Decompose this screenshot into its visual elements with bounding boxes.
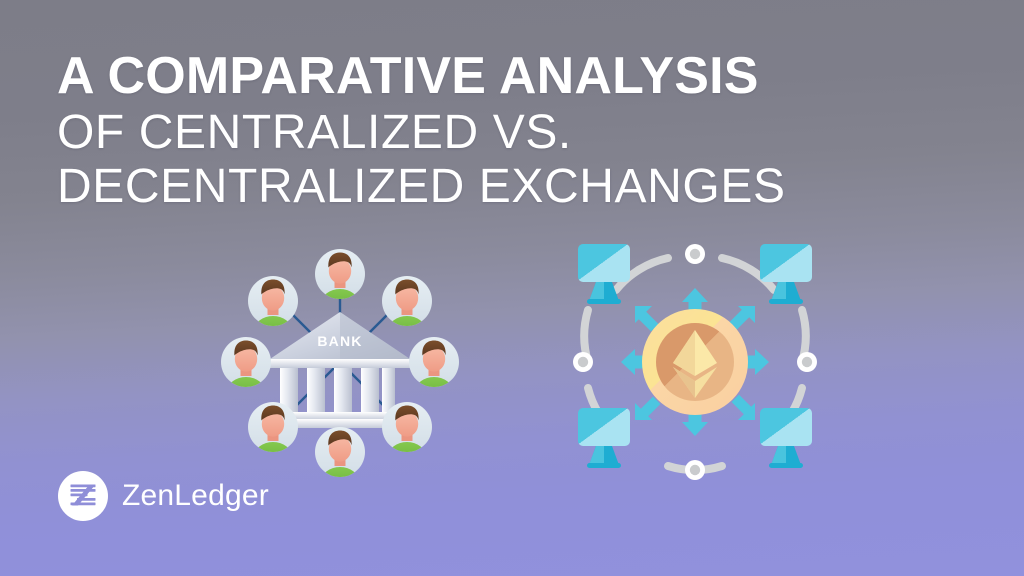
brand-wordmark: ZenLedger [122,481,269,511]
user-avatar-icon [221,337,271,407]
user-avatar-icon [409,337,459,407]
user-avatar-icon [248,402,298,472]
desktop-monitor-icon [578,408,630,468]
network-node-dot-icon [797,352,817,372]
centralized-exchange-diagram: BANK [208,240,472,484]
hero-banner: A COMPARATIVE ANALYSIS OF CENTRALIZED VS… [0,0,1024,576]
user-avatar-icon [315,427,365,497]
title-line-2: OF CENTRALIZED VS. [57,109,977,157]
zenledger-z-circle-icon [58,471,108,521]
arrow-icon-down-right [732,395,755,420]
network-node-dot-icon [685,244,705,264]
user-avatar-icon [382,402,432,472]
title-line-1: A COMPARATIVE ANALYSIS [57,50,977,102]
user-avatar-icon [248,276,298,346]
network-node-dot-icon [573,352,593,372]
title-line-3: DECENTRALIZED EXCHANGES [57,163,977,211]
desktop-monitor-icon [760,244,812,304]
desktop-monitor-icon [578,244,630,304]
network-node-dot-icon [685,460,705,480]
page-title: A COMPARATIVE ANALYSIS OF CENTRALIZED VS… [57,50,977,211]
bank-label: BANK [317,333,362,349]
arrow-icon-down-left [635,397,660,420]
decentralized-exchange-diagram [556,236,834,488]
desktop-monitor-icon [760,408,812,468]
user-avatar-icon [382,276,432,346]
crypto-coin-ethereum-icon [642,309,748,415]
